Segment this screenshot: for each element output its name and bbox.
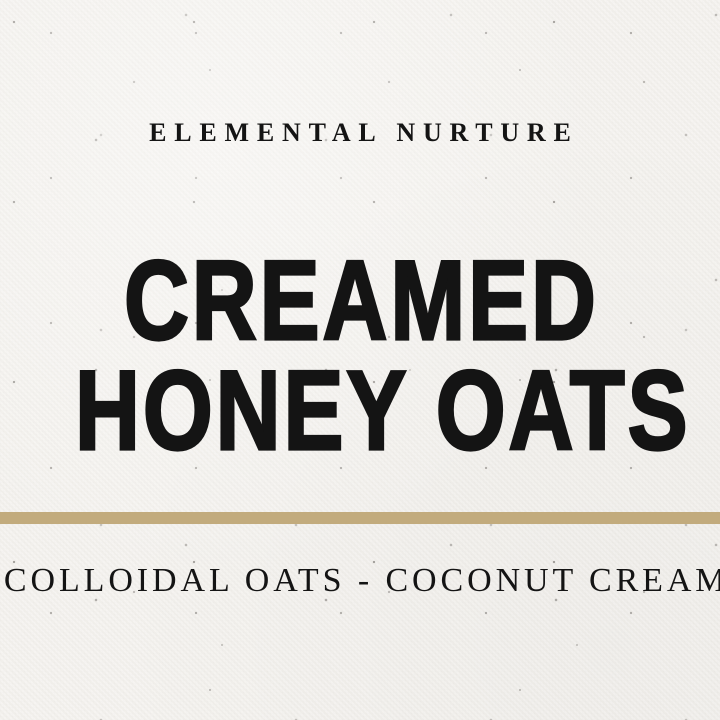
- product-tagline: COLLOIDAL OATS - COCONUT CREAM: [0, 564, 720, 598]
- product-title: CREAMED HONEY OATS: [0, 246, 720, 466]
- product-label-canvas: ELEMENTAL NURTURE CREAMED HONEY OATS COL…: [0, 0, 720, 720]
- product-title-line-1: CREAMED: [72, 246, 648, 356]
- product-title-line-2: HONEY OATS: [72, 356, 648, 466]
- gold-divider-rule: [0, 512, 720, 524]
- label-content: ELEMENTAL NURTURE CREAMED HONEY OATS COL…: [0, 0, 720, 720]
- brand-name: ELEMENTAL NURTURE: [0, 120, 720, 146]
